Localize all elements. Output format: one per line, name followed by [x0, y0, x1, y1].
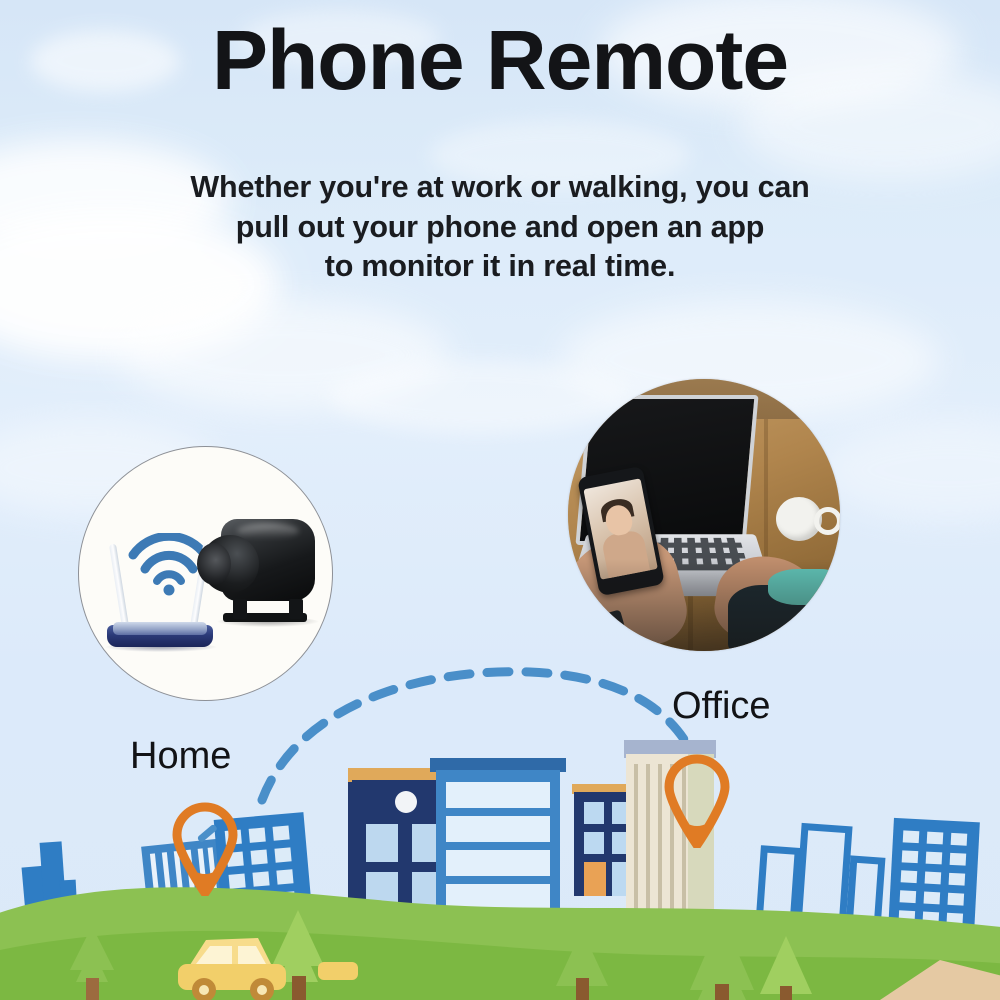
camera-foot	[289, 599, 303, 619]
photo-circle	[568, 379, 840, 651]
router-top-panel	[113, 622, 207, 635]
map-pin-office[interactable]	[660, 752, 734, 848]
camera-foot	[233, 599, 247, 619]
camera-lens	[197, 543, 231, 585]
device-circle	[78, 446, 333, 701]
label-office: Office	[672, 685, 771, 728]
photo-shadow-overlay	[568, 559, 840, 651]
label-home: Home	[130, 735, 231, 778]
infographic-root: Phone Remote Whether you're at work or w…	[0, 0, 1000, 1000]
map-pin-home[interactable]	[168, 800, 242, 896]
camera-highlight	[237, 523, 299, 539]
mini-camera	[195, 513, 321, 631]
coffee-cup-handle	[814, 507, 840, 535]
